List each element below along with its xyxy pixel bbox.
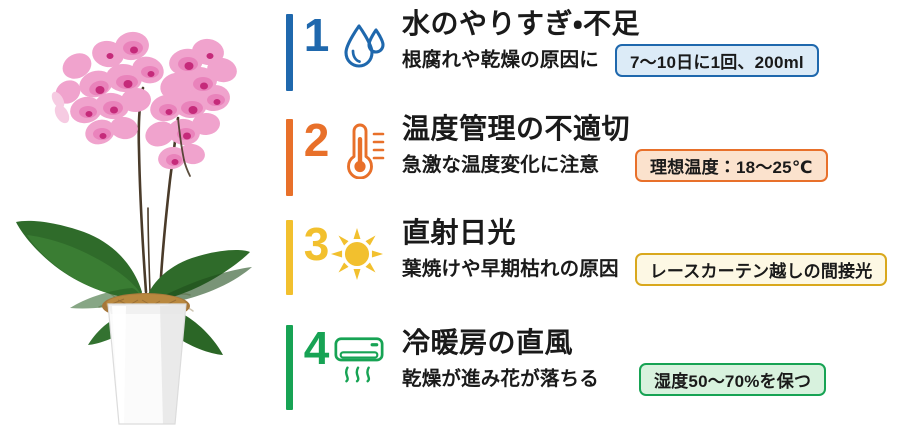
list-item-sunlight[interactable]: 3 直射日光 <box>282 209 900 316</box>
orchid-photo <box>0 0 282 428</box>
status-badge[interactable]: 7〜10日に1回、200ml <box>615 44 819 77</box>
accent-bar <box>286 220 293 295</box>
item-subline: 急激な温度変化に注意 理想温度：18〜25℃ <box>402 149 900 182</box>
item-headline: 直射日光 <box>402 215 900 251</box>
item-subline: 根腐れや乾燥の原因に 7〜10日に1回、200ml <box>402 44 900 77</box>
thermometer-icon <box>336 119 390 181</box>
accent-bar <box>286 119 293 196</box>
status-badge[interactable]: 湿度50〜70%を保つ <box>639 363 826 396</box>
status-badge[interactable]: 理想温度：18〜25℃ <box>635 149 828 182</box>
item-subtitle: 乾燥が進み花が落ちる <box>402 367 599 392</box>
list-item-temperature[interactable]: 2 温度管理の不適切 急激な温度変化に注意 <box>282 105 900 212</box>
item-subtitle: 急激な温度変化に注意 <box>402 153 599 178</box>
list-item-watering[interactable]: 1 水のやりすぎ・不足 根腐れや乾燥の原因に 7〜10日に1回、200ml <box>282 0 900 107</box>
accent-bar <box>286 325 293 410</box>
item-texts: 冷暖房の直風 乾燥が進み花が落ちる 湿度50〜70%を保つ <box>402 325 900 396</box>
item-subline: 葉焼けや早期枯れの原因 レースカーテン越しの間接光 <box>402 253 900 286</box>
infographic-canvas: 1 水のやりすぎ・不足 根腐れや乾燥の原因に 7〜10日に1回、200ml 2 <box>0 0 900 428</box>
item-number: 4 <box>298 325 334 371</box>
item-number: 2 <box>298 117 334 163</box>
item-headline: 温度管理の不適切 <box>402 111 900 147</box>
tips-list: 1 水のやりすぎ・不足 根腐れや乾燥の原因に 7〜10日に1回、200ml 2 <box>282 0 900 428</box>
item-texts: 水のやりすぎ・不足 根腐れや乾燥の原因に 7〜10日に1回、200ml <box>402 6 900 77</box>
accent-bar <box>286 14 293 91</box>
air-conditioner-icon <box>332 329 386 391</box>
orchid-pot <box>108 304 186 424</box>
status-badge[interactable]: レースカーテン越しの間接光 <box>635 253 888 286</box>
item-subline: 乾燥が進み花が落ちる 湿度50〜70%を保つ <box>402 363 900 396</box>
item-headline: 水のやりすぎ・不足 <box>402 6 900 42</box>
item-subtitle: 根腐れや乾燥の原因に <box>402 48 599 73</box>
sun-icon <box>330 223 384 285</box>
orchid-illustration <box>0 0 282 428</box>
water-drop-icon <box>336 14 390 76</box>
list-item-air-draft[interactable]: 4 冷暖房の直風 乾燥が進み花が落ちる 湿度50〜70%を保 <box>282 313 900 420</box>
item-texts: 直射日光 葉焼けや早期枯れの原因 レースカーテン越しの間接光 <box>402 215 900 286</box>
item-headline: 冷暖房の直風 <box>402 325 900 361</box>
item-subtitle: 葉焼けや早期枯れの原因 <box>402 257 619 282</box>
item-number: 3 <box>298 221 334 267</box>
item-texts: 温度管理の不適切 急激な温度変化に注意 理想温度：18〜25℃ <box>402 111 900 182</box>
item-number: 1 <box>298 12 334 58</box>
